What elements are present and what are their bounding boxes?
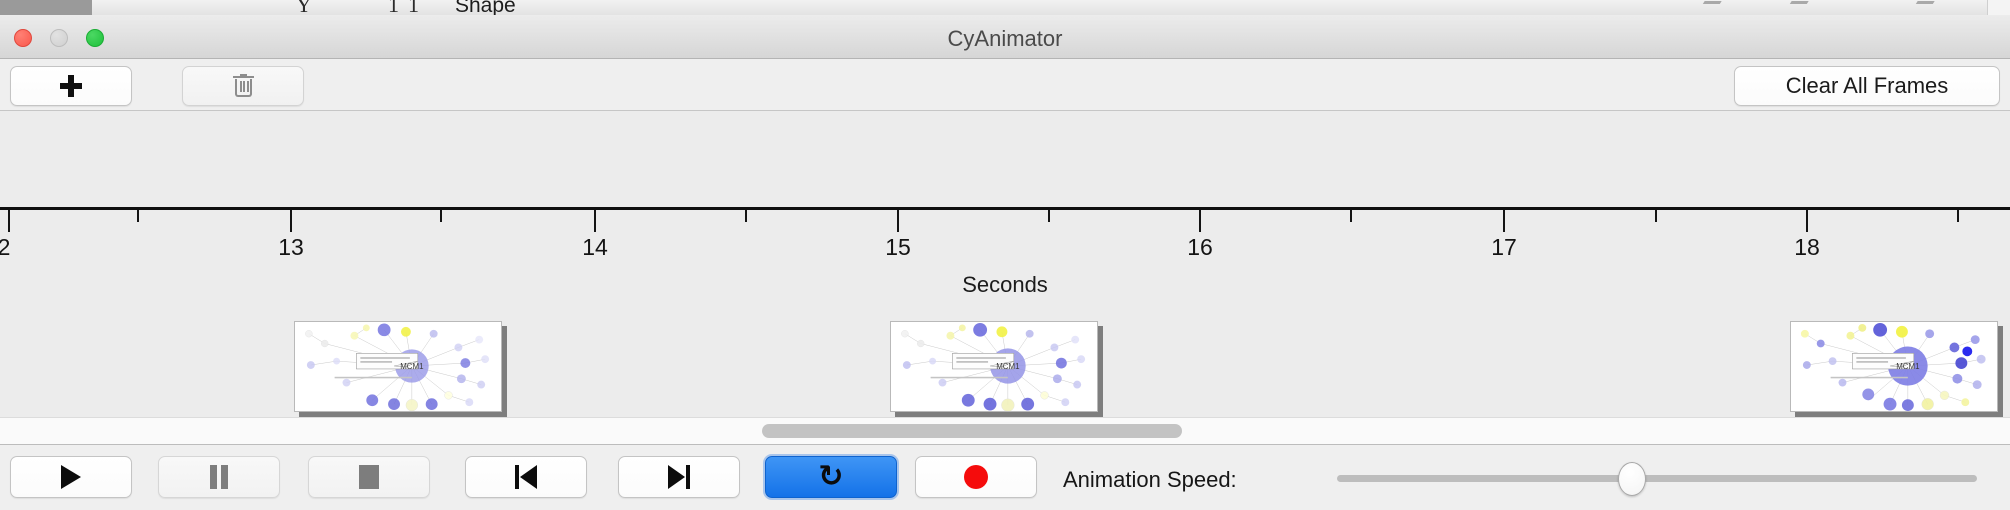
add-frame-button[interactable] bbox=[10, 66, 132, 106]
pause-button[interactable] bbox=[158, 456, 280, 498]
play-icon bbox=[61, 465, 81, 489]
stop-button[interactable] bbox=[308, 456, 430, 498]
ruler-label: 15 bbox=[885, 234, 911, 261]
record-icon bbox=[964, 465, 988, 489]
timeline-panel[interactable]: MCM1 bbox=[0, 111, 2010, 417]
timeline-frame-3[interactable]: MCM1 bbox=[1790, 321, 2003, 417]
toolbar: Clear All Frames bbox=[0, 59, 2010, 111]
stop-icon bbox=[359, 465, 379, 489]
cyanimator-window: Y 1 1 Shape CyAnimator Clear All Frames bbox=[0, 0, 2010, 510]
ruler-tick-major bbox=[8, 210, 10, 232]
slider-thumb[interactable] bbox=[1618, 462, 1646, 496]
ruler-tick-minor bbox=[1350, 210, 1352, 222]
loop-icon: ↻ bbox=[818, 462, 843, 492]
loop-button[interactable]: ↻ bbox=[765, 456, 897, 498]
ruler-tick-major bbox=[1199, 210, 1201, 232]
playback-toolbar: ↻ Animation Speed: bbox=[0, 445, 2010, 510]
clear-all-frames-button[interactable]: Clear All Frames bbox=[1734, 66, 2000, 106]
play-button[interactable] bbox=[10, 456, 132, 498]
network-thumbnail-icon: MCM1 bbox=[891, 322, 1097, 411]
skip-to-end-button[interactable] bbox=[618, 456, 740, 498]
ruler-tick-minor bbox=[1048, 210, 1050, 222]
timeline-ruler[interactable]: 2 13 14 15 16 17 18 Seconds bbox=[0, 207, 2010, 287]
horizontal-scrollbar[interactable] bbox=[0, 417, 2010, 445]
ruler-label: 17 bbox=[1491, 234, 1517, 261]
timeline-frame-2[interactable]: MCM1 bbox=[890, 321, 1103, 417]
frame-thumbnail: MCM1 bbox=[1790, 321, 1998, 412]
ruler-label: 18 bbox=[1794, 234, 1820, 261]
network-thumbnail-icon: MCM1 bbox=[295, 322, 501, 411]
skip-to-start-button[interactable] bbox=[465, 456, 587, 498]
trash-icon bbox=[233, 74, 254, 98]
frame-thumbnail: MCM1 bbox=[890, 321, 1098, 412]
ruler-tick-minor bbox=[1957, 210, 1959, 222]
ruler-baseline bbox=[0, 207, 2010, 210]
skip-back-icon bbox=[515, 465, 537, 489]
background-window-label: Shape bbox=[455, 0, 516, 15]
background-panel-5 bbox=[672, 0, 1193, 15]
ruler-tick-major bbox=[1806, 210, 1808, 232]
animation-speed-slider[interactable] bbox=[1337, 466, 1977, 490]
animation-speed-label: Animation Speed: bbox=[1063, 467, 1237, 493]
axis-title: Seconds bbox=[0, 272, 2010, 298]
background-panel-4 bbox=[552, 0, 673, 15]
title-bar: CyAnimator bbox=[0, 15, 2010, 59]
clear-all-frames-label: Clear All Frames bbox=[1786, 73, 1949, 99]
background-panel-1 bbox=[92, 0, 243, 15]
ruler-tick-major bbox=[1503, 210, 1505, 232]
scrollbar-thumb[interactable] bbox=[762, 424, 1182, 438]
ruler-label: 16 bbox=[1187, 234, 1213, 261]
window-title: CyAnimator bbox=[0, 26, 2010, 52]
ruler-tick-major bbox=[897, 210, 899, 232]
frame-thumbnail: MCM1 bbox=[294, 321, 502, 412]
ruler-label: 2 bbox=[0, 234, 10, 261]
record-button[interactable] bbox=[915, 456, 1037, 498]
ruler-tick-minor bbox=[1655, 210, 1657, 222]
background-glyph-y: Y bbox=[296, 0, 312, 15]
delete-frame-button[interactable] bbox=[182, 66, 304, 106]
background-window-titlebar bbox=[0, 0, 92, 15]
svg-text:MCM1: MCM1 bbox=[1896, 362, 1919, 371]
network-thumbnail-icon: MCM1 bbox=[1791, 322, 1997, 411]
ruler-tick-major bbox=[290, 210, 292, 232]
ruler-tick-minor bbox=[137, 210, 139, 222]
ruler-tick-minor bbox=[745, 210, 747, 222]
plus-icon bbox=[60, 75, 82, 97]
skip-forward-icon bbox=[668, 465, 690, 489]
ruler-tick-minor bbox=[440, 210, 442, 222]
ruler-label: 13 bbox=[278, 234, 304, 261]
ruler-tick-major bbox=[594, 210, 596, 232]
background-window: Y 1 1 Shape bbox=[0, 0, 2010, 15]
pause-icon bbox=[209, 465, 229, 489]
slider-track bbox=[1337, 475, 1977, 482]
svg-text:MCM1: MCM1 bbox=[996, 362, 1019, 371]
background-panel-6 bbox=[1192, 0, 2010, 15]
background-glyph-1b: 1 bbox=[408, 0, 419, 15]
svg-text:MCM1: MCM1 bbox=[400, 362, 423, 371]
background-glyph-1a: 1 bbox=[388, 0, 399, 15]
timeline-frame-1[interactable]: MCM1 bbox=[294, 321, 507, 417]
ruler-label: 14 bbox=[582, 234, 608, 261]
background-window-corner bbox=[1987, 0, 2010, 15]
